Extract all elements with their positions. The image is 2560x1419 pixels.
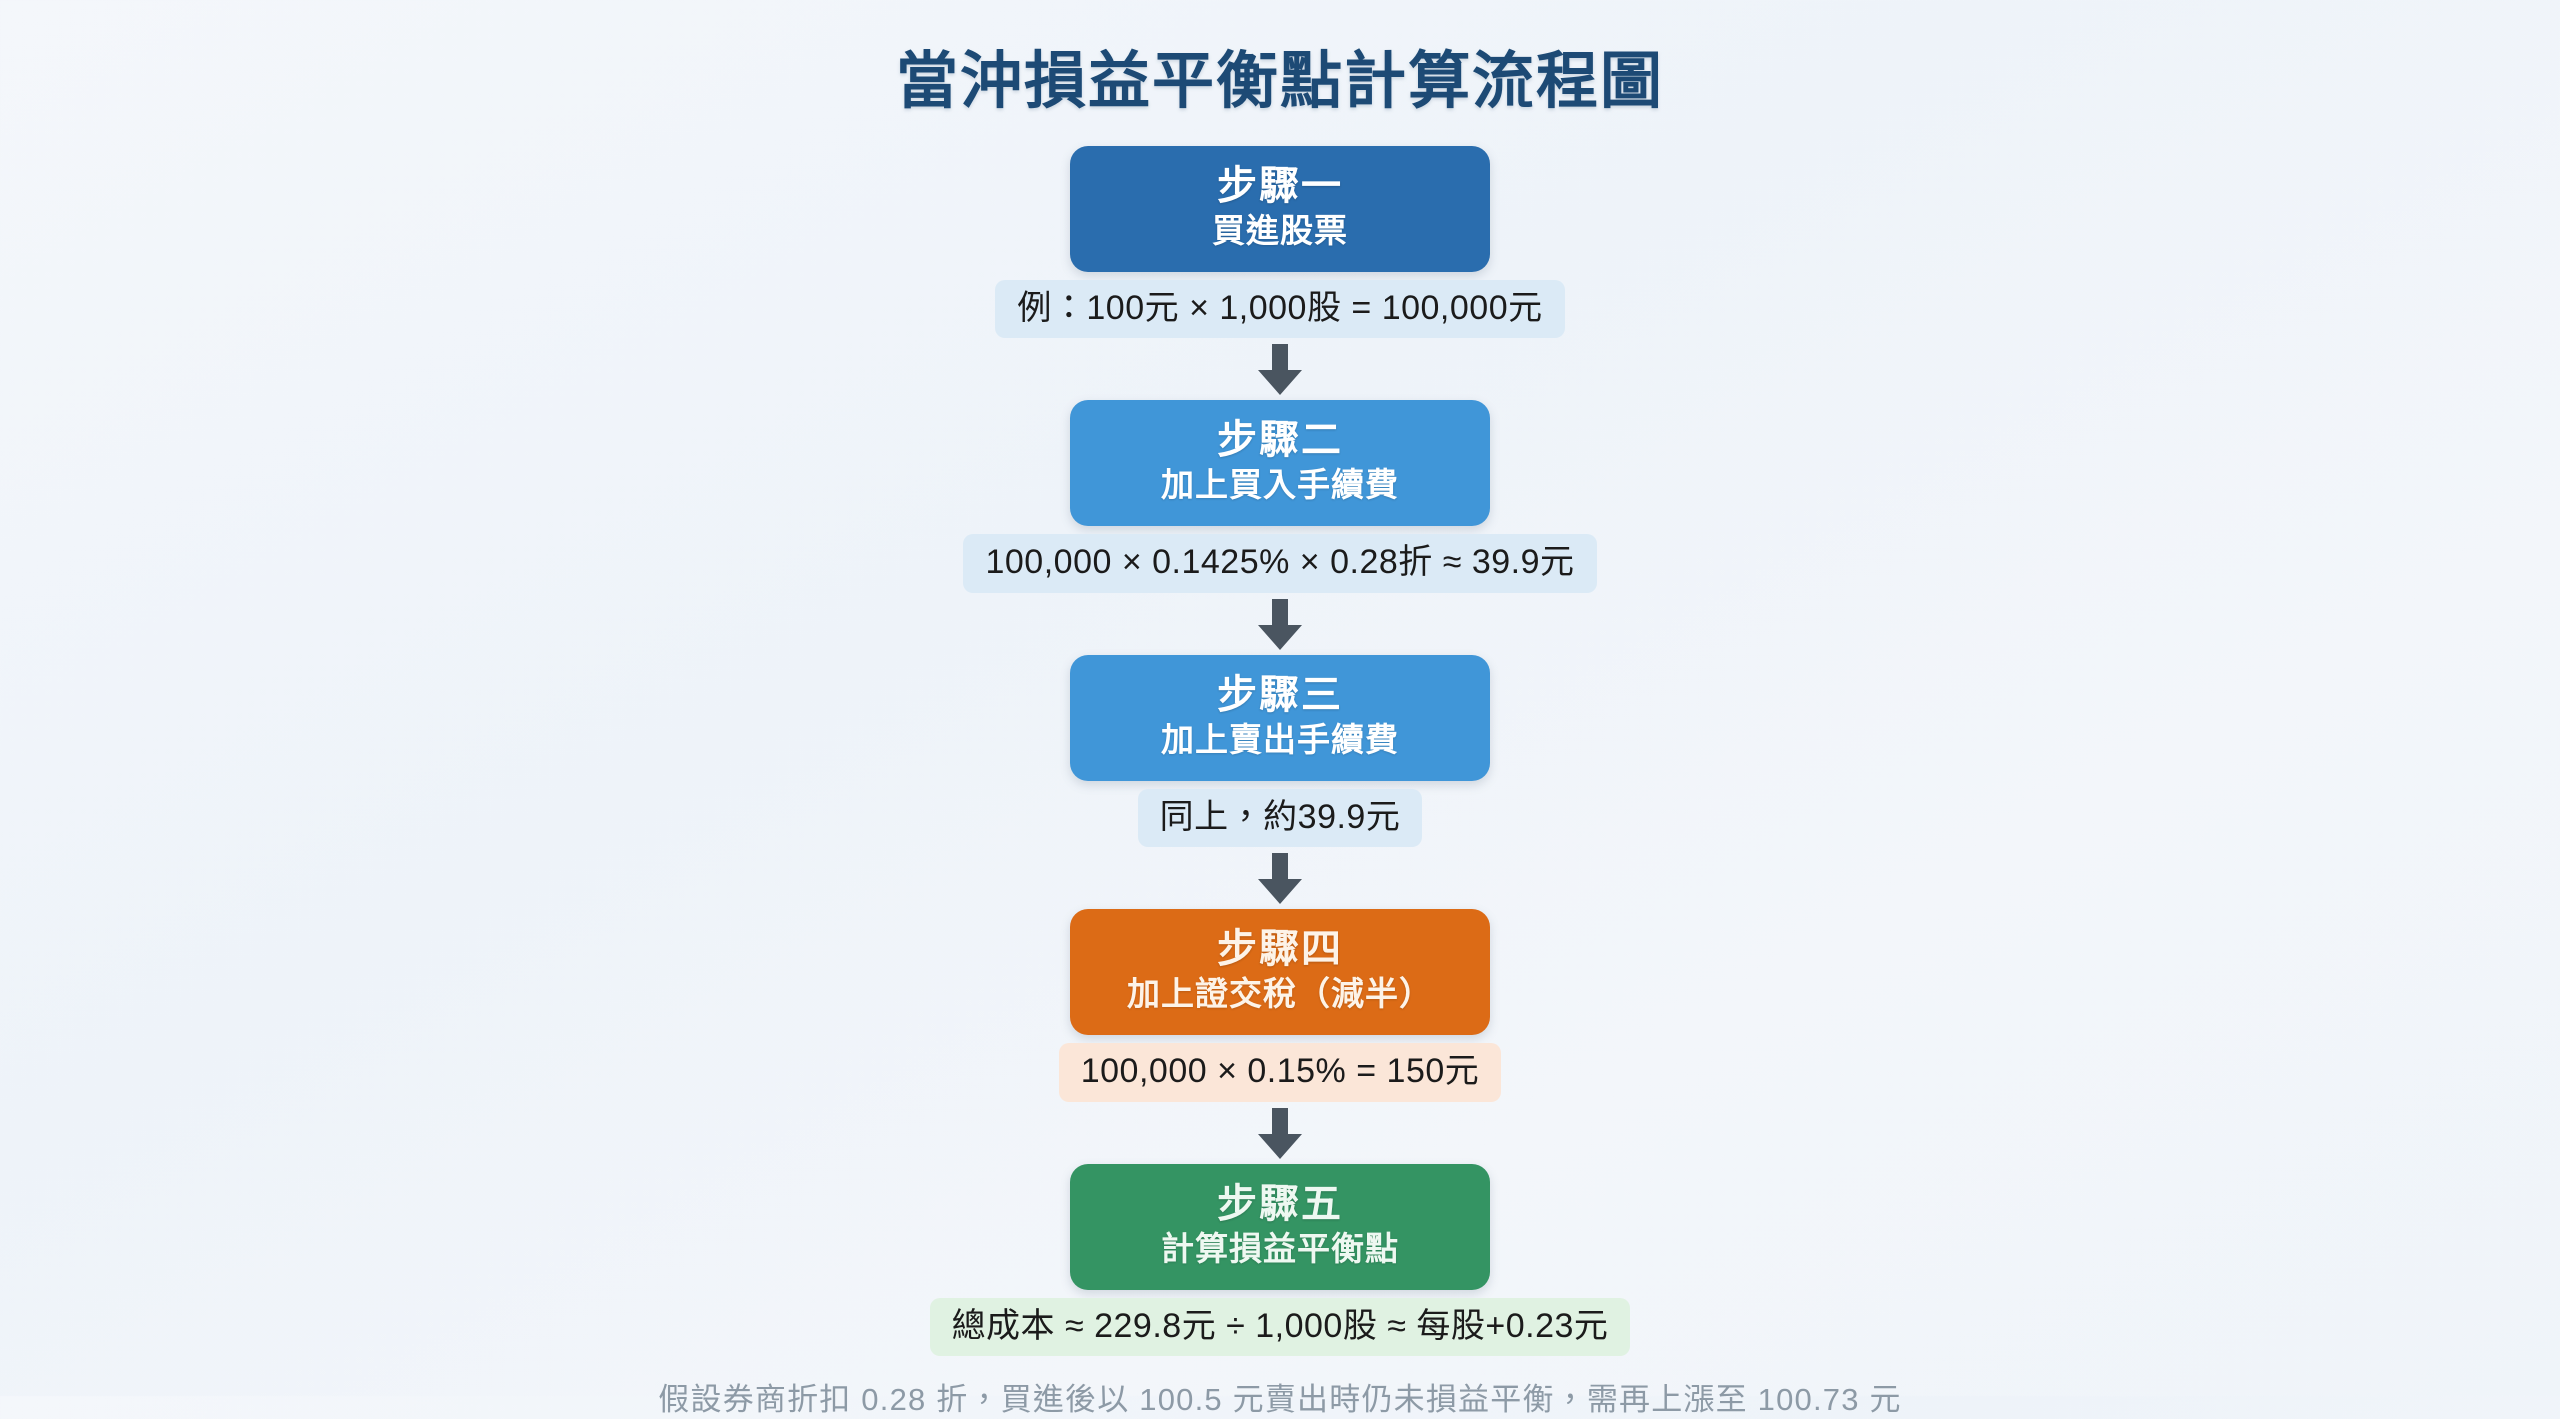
step-group-5: 步驟五 計算損益平衡點 總成本 ≈ 229.8元 ÷ 1,000股 ≈ 每股+0… [0, 1164, 2560, 1356]
step-group-4: 步驟四 加上證交稅（減半） 100,000 × 0.15% = 150元 [0, 909, 2560, 1163]
step-group-3: 步驟三 加上賣出手續費 同上，約39.9元 [0, 655, 2560, 909]
arrow-down-icon-1 [1257, 344, 1303, 396]
page-title: 當沖損益平衡點計算流程圖 [896, 30, 1664, 120]
step-box-1[interactable]: 步驟一 買進股票 [1070, 146, 1490, 272]
step-caption-2: 100,000 × 0.1425% × 0.28折 ≈ 39.9元 [963, 534, 1596, 593]
footer-note: 假設券商折扣 0.28 折，買進後以 100.5 元賣出時仍未損益平衡，需再上漲… [658, 1374, 1901, 1419]
arrow-down-icon-4 [1257, 1108, 1303, 1160]
step-group-2: 步驟二 加上買入手續費 100,000 × 0.1425% × 0.28折 ≈ … [0, 400, 2560, 654]
flowchart-steps-container: 步驟一 買進股票 例：100元 × 1,000股 = 100,000元 步驟二 … [0, 146, 2560, 1356]
flowchart-page: 當沖損益平衡點計算流程圖 步驟一 買進股票 例：100元 × 1,000股 = … [0, 0, 2560, 1396]
step-caption-1: 例：100元 × 1,000股 = 100,000元 [995, 280, 1564, 339]
step-title-2: 步驟二 [1217, 418, 1343, 462]
step-subtitle-3: 加上賣出手續費 [1161, 721, 1399, 759]
step-caption-5: 總成本 ≈ 229.8元 ÷ 1,000股 ≈ 每股+0.23元 [930, 1298, 1631, 1357]
step-caption-4: 100,000 × 0.15% = 150元 [1059, 1043, 1502, 1102]
step-box-2[interactable]: 步驟二 加上買入手續費 [1070, 400, 1490, 526]
step-title-4: 步驟四 [1217, 927, 1343, 971]
step-subtitle-4: 加上證交稅（減半） [1127, 975, 1433, 1013]
step-subtitle-1: 買進股票 [1212, 212, 1348, 250]
step-box-4[interactable]: 步驟四 加上證交稅（減半） [1070, 909, 1490, 1035]
step-box-3[interactable]: 步驟三 加上賣出手續費 [1070, 655, 1490, 781]
step-title-5: 步驟五 [1217, 1182, 1343, 1226]
step-caption-3: 同上，約39.9元 [1138, 789, 1423, 848]
step-subtitle-5: 計算損益平衡點 [1161, 1230, 1399, 1268]
arrow-down-icon-3 [1257, 853, 1303, 905]
step-subtitle-2: 加上買入手續費 [1161, 466, 1399, 504]
step-box-5[interactable]: 步驟五 計算損益平衡點 [1070, 1164, 1490, 1290]
step-title-1: 步驟一 [1217, 164, 1343, 208]
step-title-3: 步驟三 [1217, 673, 1343, 717]
arrow-down-icon-2 [1257, 599, 1303, 651]
step-group-1: 步驟一 買進股票 例：100元 × 1,000股 = 100,000元 [0, 146, 2560, 400]
